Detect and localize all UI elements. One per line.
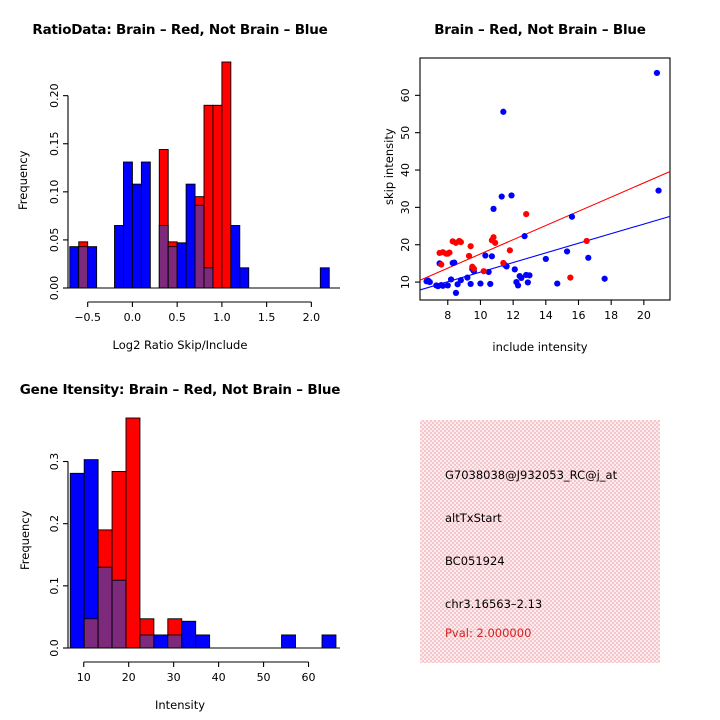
scatter-y-tick-label: 30	[399, 200, 412, 214]
ratio-x-tick-label: 0.0	[124, 311, 142, 324]
scatter-point	[477, 280, 483, 286]
gene-bar-overlap	[140, 635, 154, 648]
ratio-bar	[123, 162, 132, 288]
scatter-point	[466, 253, 472, 259]
ratio-histogram-ylabel: Frequency	[16, 151, 30, 210]
gene-x-tick-label: 40	[212, 671, 226, 684]
gene-bar	[70, 473, 84, 648]
ratio-bar-overlap	[159, 225, 168, 288]
scatter-point	[602, 276, 608, 282]
scatter-point	[499, 193, 505, 199]
ratio-x-tick-label: 0.5	[168, 311, 186, 324]
scatter-fit-line	[420, 172, 670, 281]
scatter-x-tick-label: 18	[604, 309, 618, 322]
gene-bar	[196, 635, 210, 648]
scatter-fit-line	[420, 216, 670, 290]
scatter-ylabel: skip intensity	[382, 128, 396, 205]
scatter-point	[567, 274, 573, 280]
scatter-point	[448, 276, 454, 282]
scatter-point	[490, 234, 496, 240]
accession-text: BC051924	[445, 554, 505, 568]
scatter-point	[569, 214, 575, 220]
scatter-point	[500, 109, 506, 115]
ratio-bar	[320, 268, 329, 288]
gene-histogram-xlabel: Intensity	[0, 698, 360, 712]
ratio-x-tick-label: −0.5	[74, 311, 101, 324]
gene-bar-overlap	[98, 567, 112, 648]
scatter-point	[515, 282, 521, 288]
scatter-y-tick-label: 60	[399, 88, 412, 102]
scatter-x-tick-label: 8	[444, 309, 451, 322]
scatter-y-tick-label: 40	[399, 163, 412, 177]
gene-x-tick-label: 20	[122, 671, 136, 684]
scatter-point	[453, 290, 459, 296]
scatter-point	[564, 248, 570, 254]
scatter-point	[490, 206, 496, 212]
scatter-point	[654, 70, 660, 76]
gene-y-tick-label: 0.2	[48, 515, 61, 533]
scatter-point	[554, 280, 560, 286]
ratio-histogram-xlabel: Log2 Ratio Skip/Include	[0, 338, 360, 352]
scatter-point	[445, 282, 451, 288]
ratio-bar-overlap	[168, 247, 177, 288]
scatter-point	[523, 211, 529, 217]
scatter-point	[458, 239, 464, 245]
gene-histogram-ylabel: Frequency	[18, 511, 32, 570]
ratio-bar	[88, 247, 97, 288]
ratio-bar	[177, 243, 186, 288]
ratio-bar-overlap	[195, 205, 204, 288]
scatter-point	[526, 272, 532, 278]
ratio-bar	[204, 105, 213, 288]
scatter-point	[512, 266, 518, 272]
ratio-y-tick-label: 0.15	[48, 131, 61, 156]
gene-bar-overlap	[112, 580, 126, 648]
gene-bar-overlap	[168, 635, 182, 648]
ratio-bar	[70, 247, 79, 288]
scatter-plot: 1020304050608101214161820	[360, 0, 720, 360]
ratio-x-tick-label: 1.5	[258, 311, 276, 324]
figure-canvas: RatioData: Brain – Red, Not Brain – Blue…	[0, 0, 720, 720]
ratio-bar	[115, 225, 124, 288]
scatter-point	[543, 256, 549, 262]
gene-y-tick-label: 0.1	[48, 577, 61, 595]
ratio-bar	[222, 62, 231, 288]
scatter-xlabel: include intensity	[360, 340, 720, 354]
ratio-x-tick-label: 2.0	[303, 311, 321, 324]
scatter-x-tick-label: 14	[539, 309, 553, 322]
scatter-point	[500, 260, 506, 266]
ratio-x-tick-label: 1.0	[213, 311, 231, 324]
gene-y-tick-label: 0.0	[48, 639, 61, 657]
gene-bar	[154, 635, 168, 648]
panel-gene-intensity-histogram: Gene Itensity: Brain – Red, Not Brain – …	[0, 360, 360, 720]
scatter-point	[446, 249, 452, 255]
gene-bar	[282, 635, 296, 648]
scatter-x-tick-label: 20	[637, 309, 651, 322]
ratio-y-tick-label: 0.20	[48, 83, 61, 108]
scatter-x-tick-label: 10	[473, 309, 487, 322]
gene-bar-overlap	[84, 619, 98, 648]
scatter-point	[525, 279, 531, 285]
scatter-y-tick-label: 10	[399, 275, 412, 289]
scatter-point	[451, 260, 457, 266]
ratio-bar	[213, 105, 222, 288]
panel-probe-info: G7038038@J932053_RC@j_at altTxStart BC05…	[360, 360, 720, 720]
ratio-y-tick-label: 0.05	[48, 228, 61, 253]
ratio-bar	[186, 184, 195, 288]
scatter-point	[458, 277, 464, 283]
scatter-point	[464, 274, 470, 280]
scatter-point	[584, 238, 590, 244]
panel-scatter-intensity: Brain – Red, Not Brain – Blue 1020304050…	[360, 0, 720, 360]
gene-bar	[182, 621, 196, 648]
ratio-bar	[231, 225, 240, 288]
probe-info-box: G7038038@J932053_RC@j_at altTxStart BC05…	[420, 420, 660, 663]
ratio-bar	[141, 162, 150, 288]
scatter-point	[489, 253, 495, 259]
scatter-point	[482, 252, 488, 258]
ratio-y-tick-label: 0.00	[48, 276, 61, 301]
scatter-point	[487, 281, 493, 287]
scatter-point	[507, 247, 513, 253]
event-type-text: altTxStart	[445, 511, 502, 525]
ratio-y-tick-label: 0.10	[48, 180, 61, 205]
scatter-y-tick-label: 50	[399, 126, 412, 140]
ratio-histogram-plot: 0.000.050.100.150.20−0.50.00.51.01.52.0	[0, 0, 360, 360]
scatter-point	[468, 243, 474, 249]
scatter-point	[508, 192, 514, 198]
scatter-point	[585, 255, 591, 261]
scatter-point	[492, 240, 498, 246]
ratio-bar-overlap	[79, 247, 88, 288]
gene-x-tick-label: 60	[302, 671, 316, 684]
scatter-point	[471, 266, 477, 272]
scatter-point	[655, 187, 661, 193]
scatter-point	[468, 281, 474, 287]
ratio-bar-overlap	[204, 268, 213, 288]
gene-x-tick-label: 50	[257, 671, 271, 684]
gene-x-tick-label: 10	[77, 671, 91, 684]
locus-text: chr3.16563–2.13	[445, 597, 542, 611]
gene-x-tick-label: 30	[167, 671, 181, 684]
ratio-bar	[240, 268, 249, 288]
gene-bar	[126, 418, 140, 648]
scatter-point	[521, 233, 527, 239]
panel-ratio-histogram: RatioData: Brain – Red, Not Brain – Blue…	[0, 0, 360, 360]
gene-bar	[322, 635, 336, 648]
scatter-point	[438, 261, 444, 267]
gene-y-tick-label: 0.3	[48, 453, 61, 471]
ratio-bar	[132, 184, 141, 288]
scatter-x-tick-label: 12	[506, 309, 520, 322]
scatter-y-tick-label: 20	[399, 238, 412, 252]
pval-text: Pval: 2.000000	[445, 626, 531, 640]
scatter-point	[427, 279, 433, 285]
gene-histogram-plot: 0.00.10.20.3102030405060	[0, 360, 360, 720]
probe-id-text: G7038038@J932053_RC@j_at	[445, 468, 617, 482]
scatter-point	[481, 268, 487, 274]
scatter-x-tick-label: 16	[571, 309, 585, 322]
